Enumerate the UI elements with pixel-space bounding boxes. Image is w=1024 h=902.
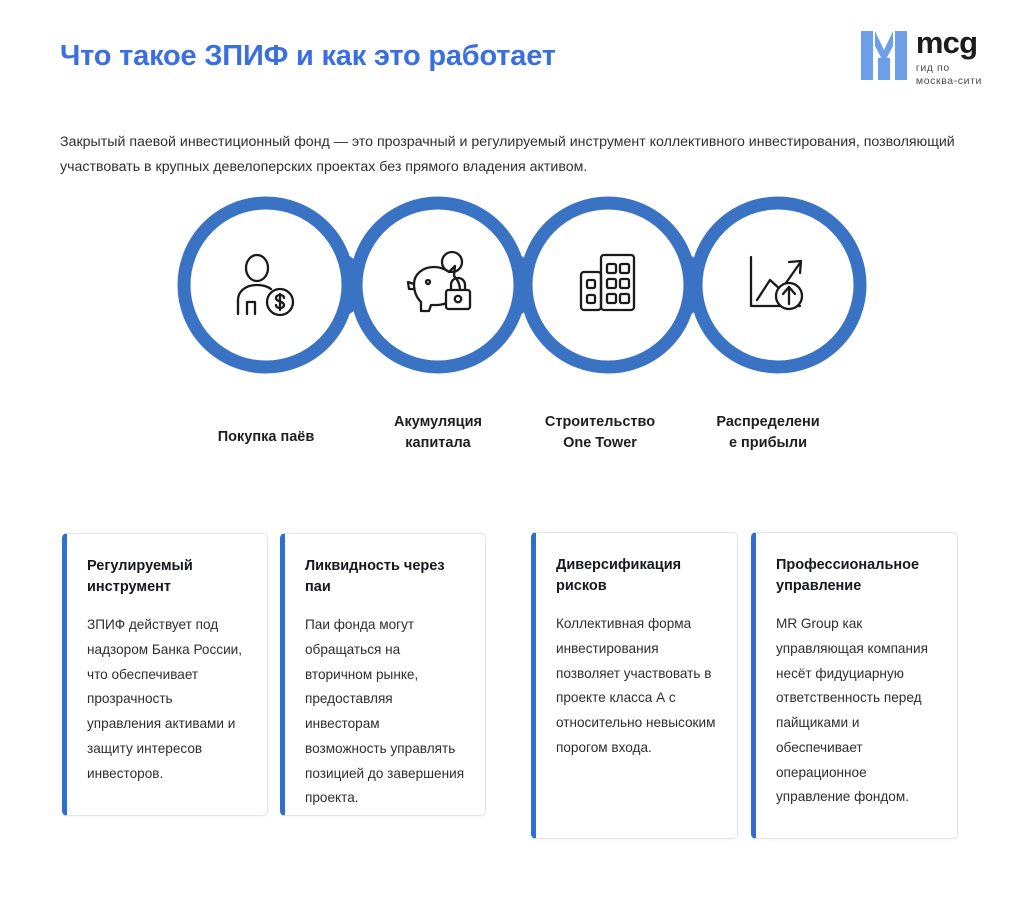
- benefit-card-title: Диверсификация рисков: [556, 555, 717, 596]
- mcg-m-logo-mark: [861, 28, 907, 80]
- process-flow-diagram: [0, 190, 1024, 390]
- process-step-circle-4: [696, 203, 860, 367]
- benefit-card[interactable]: Профессиональное управление MR Group как…: [751, 532, 958, 839]
- step-label-2: СтроительствоOne Tower: [514, 412, 686, 454]
- logo-text-block: mcg гид по москва-сити: [916, 28, 982, 88]
- benefit-card-title: Профессиональное управление: [776, 555, 937, 596]
- process-step-circle-1: [184, 203, 348, 367]
- benefit-card-body: Паи фонда могут обращаться на вторичном …: [305, 613, 465, 811]
- process-step-circle-3: [526, 203, 690, 367]
- benefit-card[interactable]: Ликвидность через паи Паи фонда могут об…: [280, 533, 486, 816]
- benefit-card-title: Регулируемый инструмент: [87, 556, 247, 597]
- page-title: Что такое ЗПИФ и как это работает: [60, 40, 556, 73]
- process-step-circle-2: [356, 203, 520, 367]
- benefit-card-body: Коллективная форма инвестирования позвол…: [556, 612, 717, 760]
- logo-wordmark: mcg: [916, 29, 982, 58]
- page-header: Что такое ЗПИФ и как это работает mcg ги…: [0, 0, 1024, 110]
- step-label-3: Распределение прибыли: [682, 412, 854, 454]
- benefit-card-body: MR Group как управляющая компания несёт …: [776, 612, 937, 810]
- logo-tagline-line-1: гид по: [916, 62, 982, 75]
- brand-logo[interactable]: mcg гид по москва-сити: [861, 28, 982, 88]
- intro-paragraph: Закрытый паевой инвестиционный фонд — эт…: [60, 130, 965, 180]
- benefit-card[interactable]: Диверсификация рисков Коллективная форма…: [531, 532, 738, 839]
- benefit-card-body: ЗПИФ действует под надзором Банка России…: [87, 613, 247, 786]
- step-label-1: Акумуляциякапитала: [352, 412, 524, 454]
- step-label-0: Покупка паёв: [180, 427, 352, 448]
- benefit-card-title: Ликвидность через паи: [305, 556, 465, 597]
- logo-tagline-line-2: москва-сити: [916, 75, 982, 88]
- benefit-card[interactable]: Регулируемый инструмент ЗПИФ действует п…: [62, 533, 268, 816]
- process-step-labels: Покупка паёв Акумуляциякапитала Строител…: [0, 412, 1024, 482]
